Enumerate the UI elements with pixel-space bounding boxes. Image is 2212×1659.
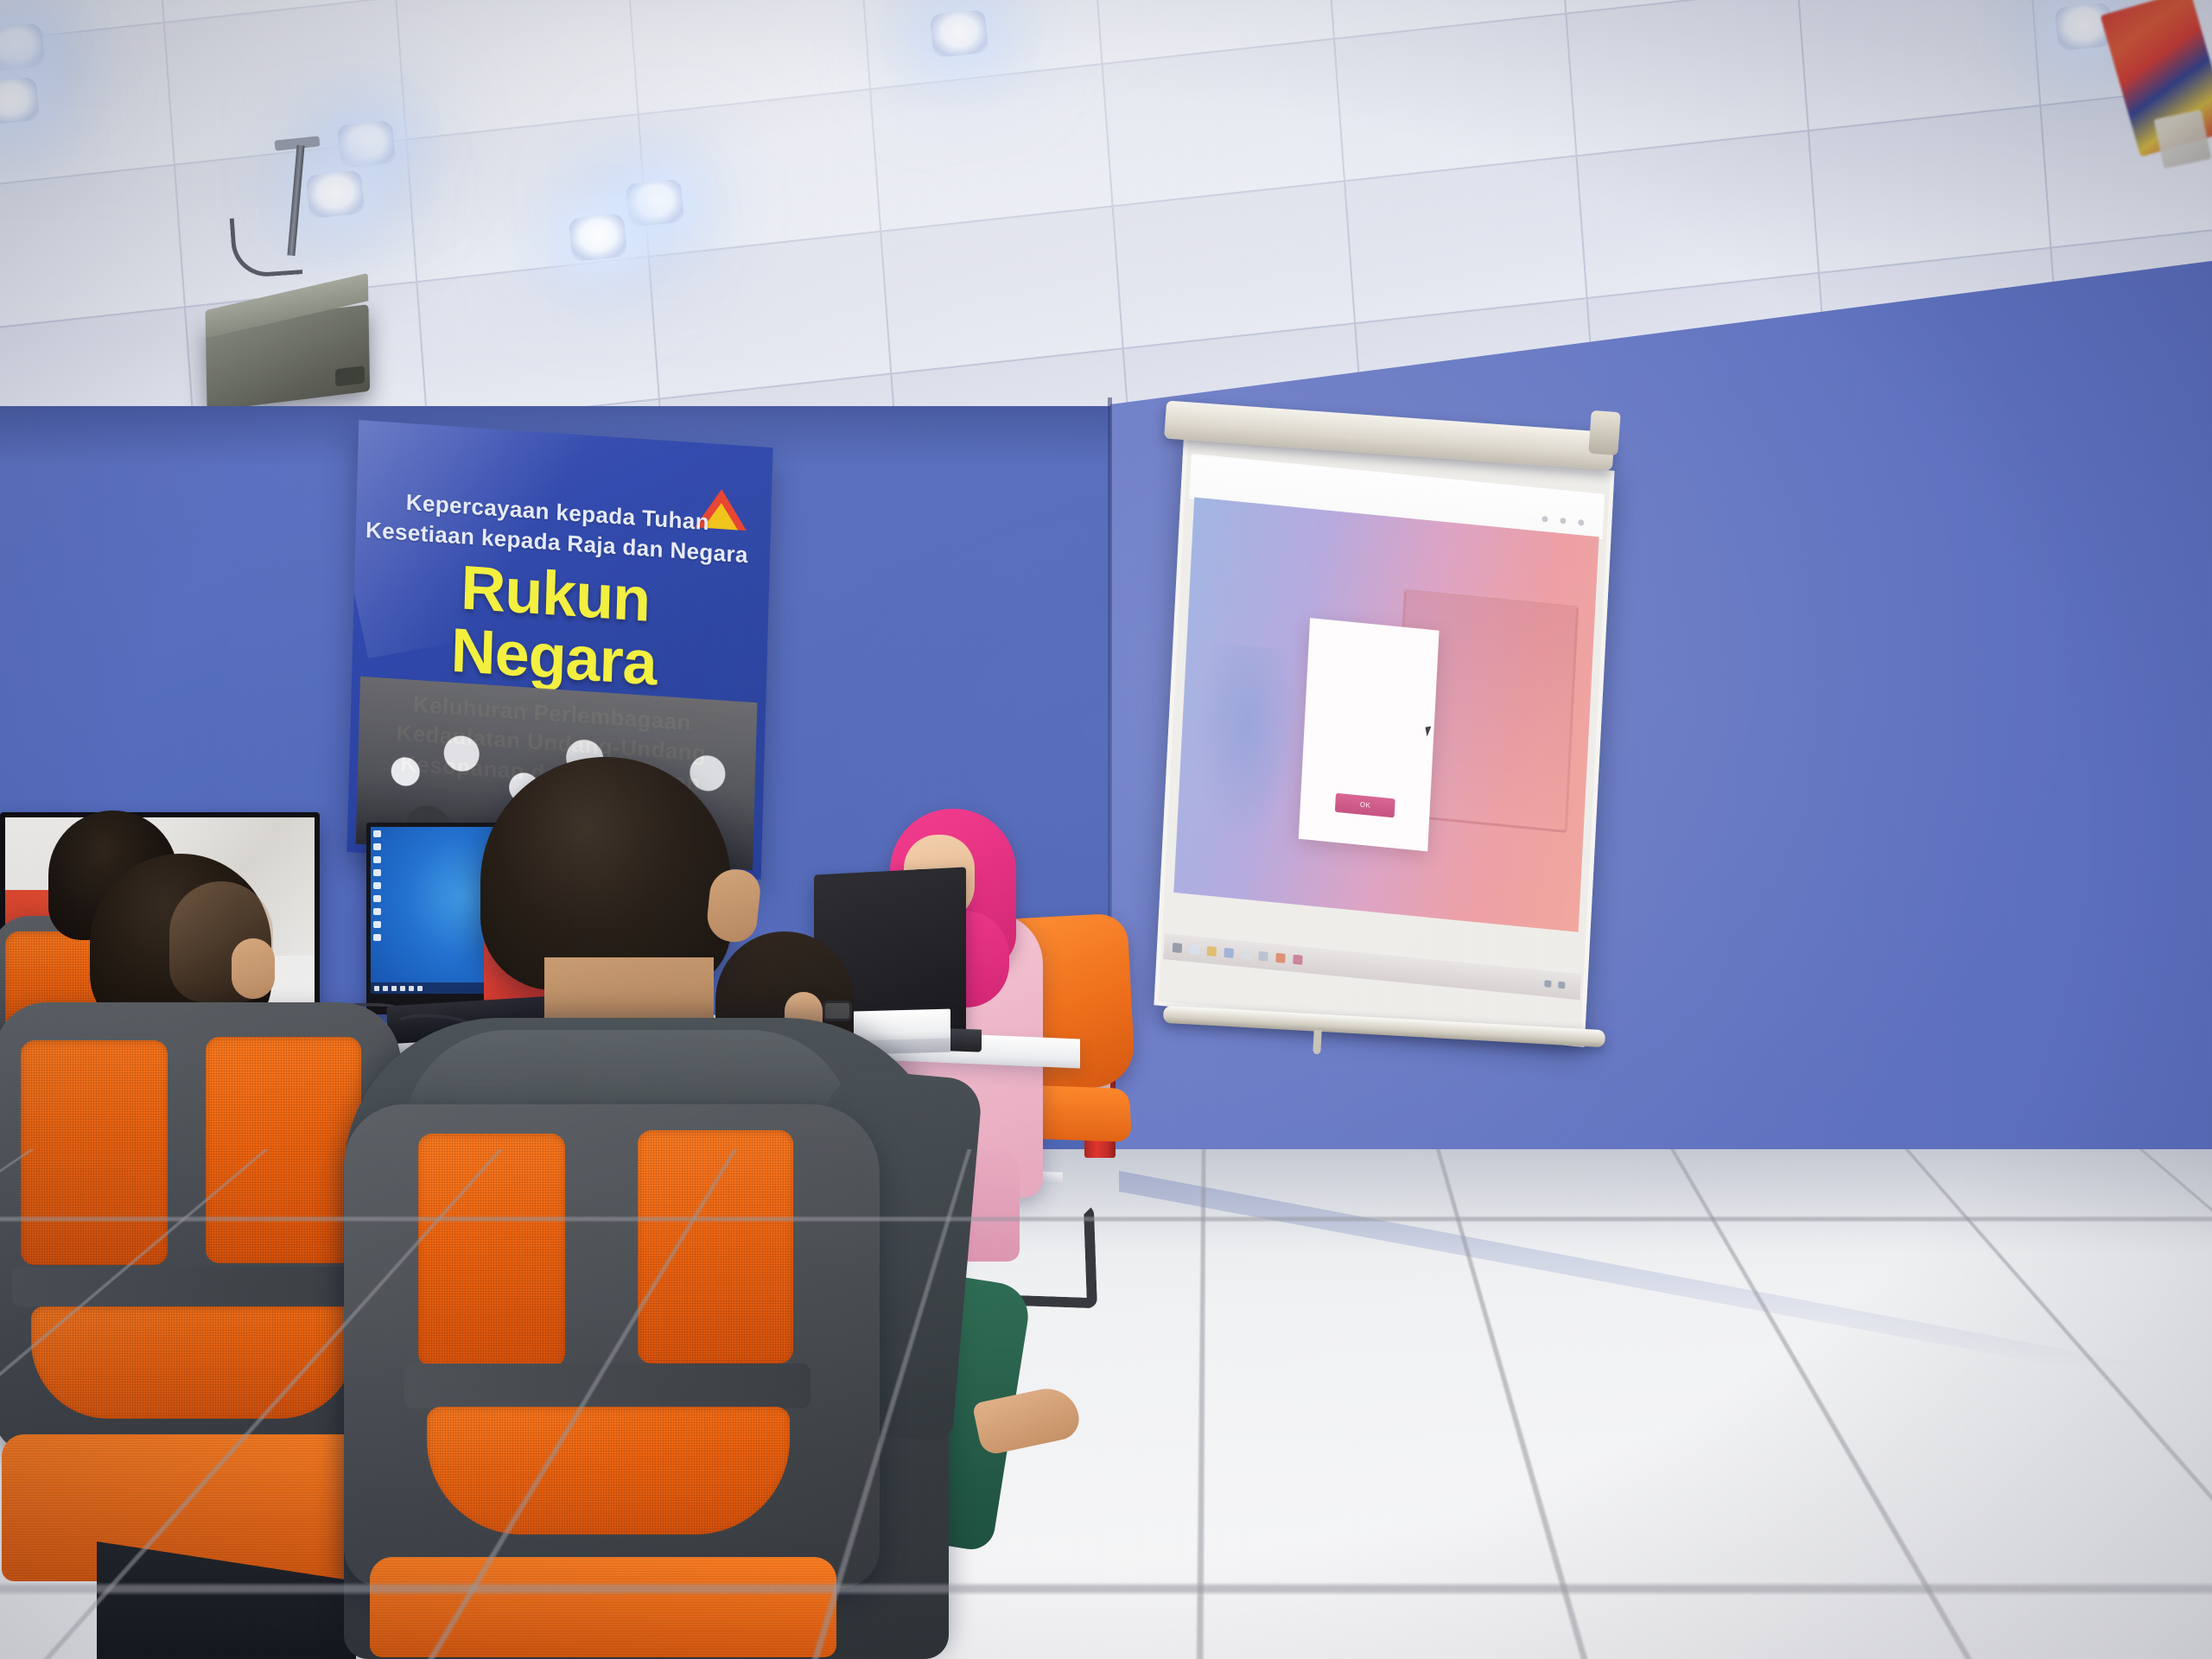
desktop-icon[interactable] [373, 843, 381, 850]
close-icon[interactable] [1578, 519, 1584, 526]
chair-mesh-panel-left [418, 1134, 565, 1367]
chair-lumbar-bar [12, 1267, 375, 1306]
dialog-ok-button[interactable]: OK [1335, 792, 1395, 817]
ceiling-tile [639, 89, 881, 257]
ceiling-tile [0, 165, 185, 333]
taskbar-icon[interactable] [417, 986, 423, 991]
ceiling-corner-object [2154, 110, 2212, 168]
ceiling-tile [870, 64, 1113, 232]
ceiling-tile [1103, 39, 1345, 207]
foreground-man-head [480, 757, 731, 990]
desktop-icon[interactable] [373, 934, 381, 941]
projection-screen[interactable]: OK [1154, 429, 1614, 1047]
ceiling-downlight-icon [306, 170, 365, 219]
ceiling-tile [1344, 156, 1587, 323]
ceiling-downlight-icon [0, 23, 45, 72]
taskbar-icon[interactable] [409, 986, 414, 991]
projected-taskbar[interactable] [1163, 933, 1581, 1000]
maximize-icon[interactable] [1560, 518, 1566, 524]
system-tray[interactable] [1544, 980, 1572, 989]
ceiling-downlight-icon [626, 179, 685, 227]
taskbar-icon[interactable] [391, 986, 397, 991]
desktop-icon[interactable] [373, 856, 381, 863]
taskbar-icon[interactable] [374, 986, 379, 991]
app-icon[interactable] [1241, 949, 1251, 959]
chair-mesh-panel-lower [31, 1306, 356, 1419]
chair-foreground-center[interactable] [344, 1104, 880, 1657]
ceiling-downlight-icon [337, 120, 397, 168]
minimize-icon[interactable] [1541, 516, 1548, 523]
browser-window-controls[interactable] [1541, 516, 1584, 526]
chair-mesh-panel-lower [427, 1407, 790, 1535]
taskbar-icon-group[interactable] [1173, 942, 1303, 964]
folder-icon[interactable] [1207, 945, 1217, 956]
volume-icon[interactable] [1558, 982, 1565, 989]
taskbar-icon[interactable] [383, 986, 388, 991]
ceiling-downlight-icon [569, 213, 628, 262]
chair-mesh-panel-right [206, 1037, 361, 1263]
screen-casing-end-cap [1588, 410, 1620, 455]
student-mohawk-ear [232, 938, 275, 999]
desktop-icon[interactable] [373, 895, 381, 902]
desktop-icon[interactable] [373, 869, 381, 876]
app-icon[interactable] [1258, 950, 1268, 961]
ceiling-tile [416, 257, 659, 424]
eyeglasses-icon [823, 1001, 852, 1021]
ceiling-tile [1334, 14, 1577, 181]
ceiling-tile [649, 232, 892, 399]
chair-lumbar-bar [404, 1363, 810, 1408]
ceiling-downlight-icon [0, 77, 40, 125]
chair-mesh-panel-left [21, 1040, 168, 1265]
desktop-icon[interactable] [373, 921, 381, 928]
chair-seat [370, 1557, 836, 1657]
search-icon[interactable] [1190, 944, 1200, 954]
start-icon[interactable] [1173, 942, 1183, 952]
browser-icon[interactable] [1224, 947, 1234, 957]
desktop-icon[interactable] [373, 882, 381, 889]
projected-dialog-box[interactable]: OK [1299, 618, 1440, 852]
screen-pull-handle[interactable] [1313, 1030, 1321, 1054]
app-icon[interactable] [1293, 954, 1303, 964]
desktop-icon[interactable] [373, 908, 381, 915]
network-icon[interactable] [1544, 980, 1551, 988]
projected-webpage: OK [1173, 497, 1599, 931]
ceiling-tile [880, 207, 1123, 374]
classroom-scene: Kepercayaan kepada Tuhan Kesetiaan kepad… [0, 0, 2212, 1659]
desktop-icon[interactable] [373, 830, 381, 837]
app-icon[interactable] [1275, 952, 1286, 963]
ceiling-tile [1113, 181, 1356, 349]
desktop-icon-column[interactable] [373, 830, 381, 941]
ceiling-downlight-icon [930, 10, 989, 58]
taskbar-icon[interactable] [400, 986, 405, 991]
chair-mesh-panel-right [638, 1130, 793, 1363]
